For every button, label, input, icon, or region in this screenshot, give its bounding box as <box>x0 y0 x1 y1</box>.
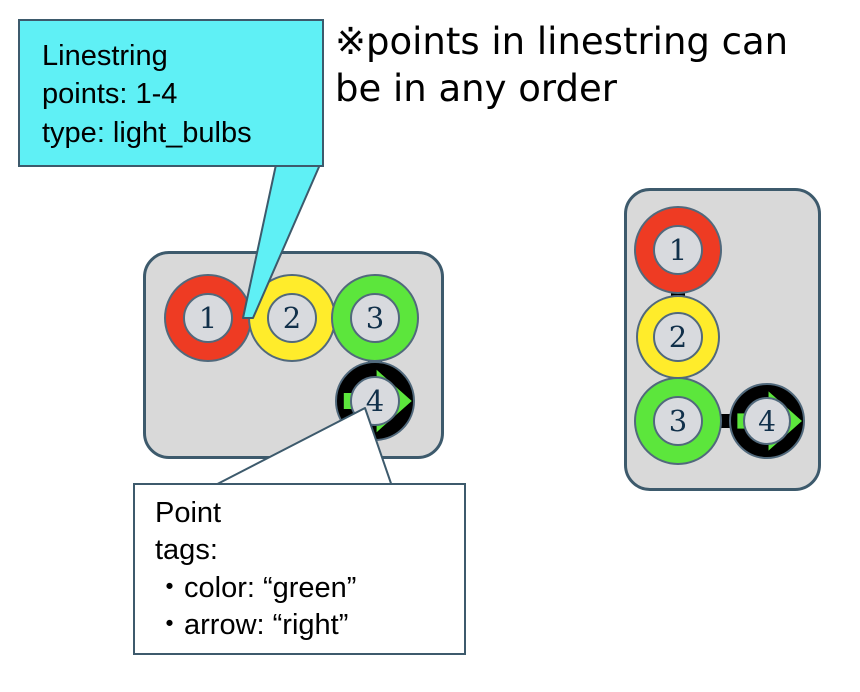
header-note: ※points in linestring can be in any orde… <box>335 18 845 113</box>
node-label: 1 <box>183 293 233 343</box>
node-horizontal-layout-3[interactable]: 3 <box>331 274 419 362</box>
node-horizontal-layout-1[interactable]: 1 <box>164 274 252 362</box>
node-label: 2 <box>653 312 703 362</box>
node-label: 4 <box>350 376 400 426</box>
node-vertical-layout-4[interactable]: 4 <box>729 383 805 459</box>
node-label: 3 <box>350 293 400 343</box>
callout-point-text: Point tags: ・color: “green” ・arrow: “rig… <box>155 495 356 645</box>
node-horizontal-layout-4[interactable]: 4 <box>335 361 415 441</box>
node-horizontal-layout-2[interactable]: 2 <box>248 274 336 362</box>
callout-linestring-text: Linestring points: 1-4 type: light_bulbs <box>42 37 252 152</box>
node-label: 1 <box>653 225 703 275</box>
diagram-canvas: 12341234 ※points in linestring can be in… <box>0 0 860 692</box>
node-vertical-layout-2[interactable]: 2 <box>636 295 720 379</box>
node-vertical-layout-1[interactable]: 1 <box>634 206 722 294</box>
node-label: 4 <box>743 397 791 445</box>
node-label: 3 <box>653 396 703 446</box>
callout-point: Point tags: ・color: “green” ・arrow: “rig… <box>133 483 466 655</box>
node-vertical-layout-3[interactable]: 3 <box>634 377 722 465</box>
callout-linestring: Linestring points: 1-4 type: light_bulbs <box>18 19 324 167</box>
node-label: 2 <box>267 293 317 343</box>
